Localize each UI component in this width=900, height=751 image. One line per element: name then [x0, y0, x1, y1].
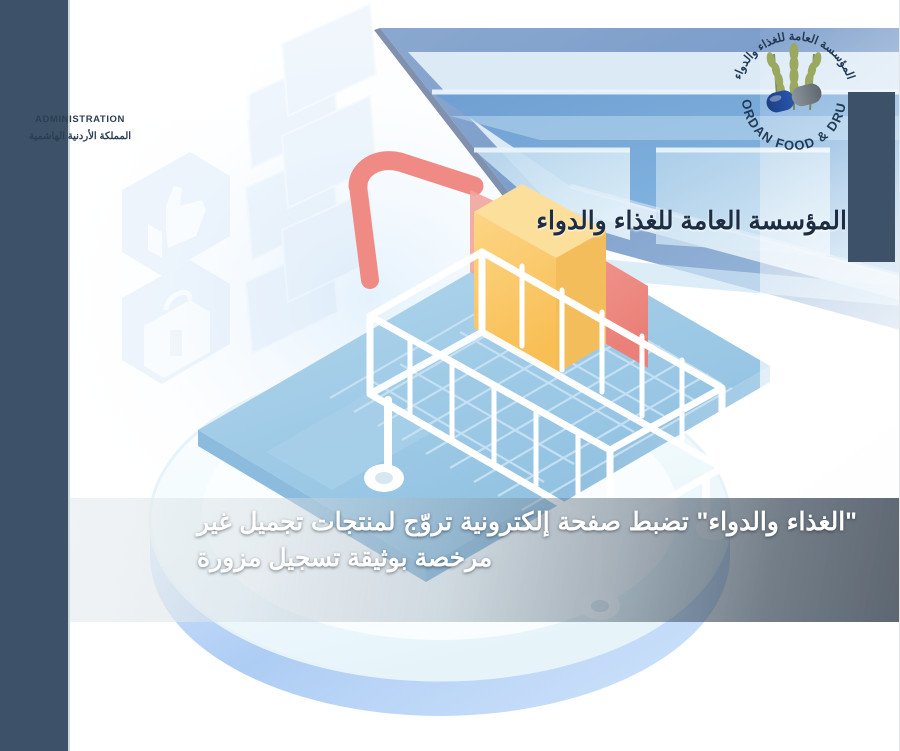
logo-administration-text: ADMINISTRATION [0, 114, 160, 125]
news-card-canvas: المؤسسة العامة للغذاء والدواء "الغذاء وا… [0, 0, 900, 751]
left-accent-bar [0, 0, 68, 751]
left-bar-divider [68, 0, 70, 751]
logo-kingdom-text: المملكة الأردنية الهاشمية [0, 131, 160, 142]
page-title: المؤسسة العامة للغذاء والدواء [536, 206, 847, 236]
headline-text: "الغذاء والدواء" تضبط صفحة إلكترونية ترو… [197, 505, 857, 576]
jfda-logo: المؤسسة العامة للغذاء والدواء [714, 14, 874, 162]
